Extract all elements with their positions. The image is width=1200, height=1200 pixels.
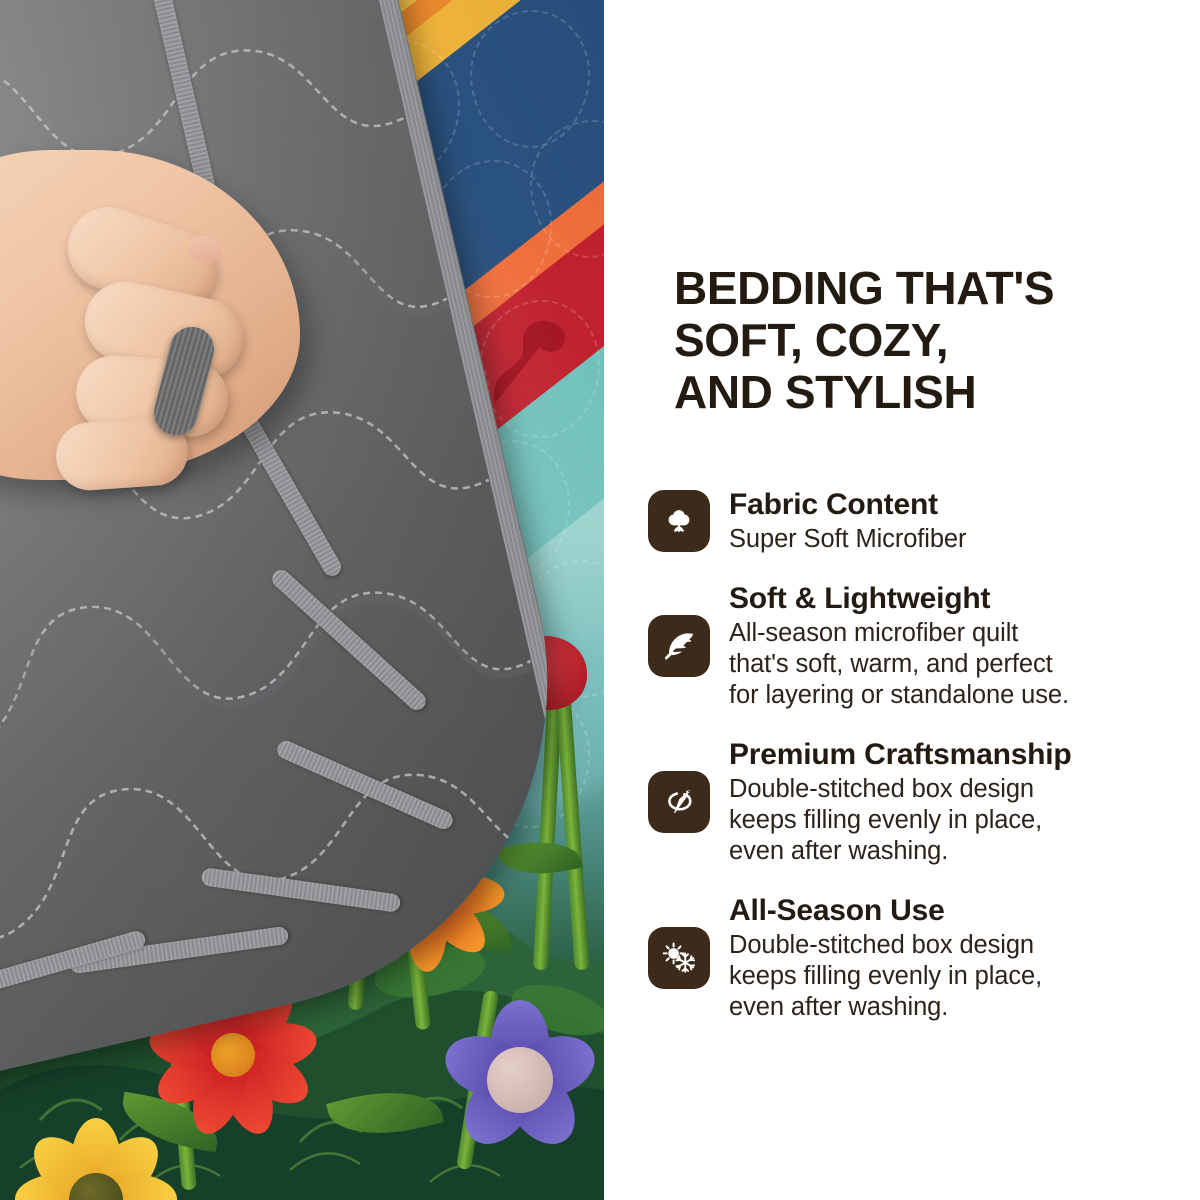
feature-description: Double-stitched box design keeps filling… bbox=[729, 774, 1178, 867]
feature-text: All-Season Use Double-stitched box desig… bbox=[729, 893, 1178, 1023]
feature-title: Fabric Content bbox=[729, 487, 1178, 523]
sun-snowflake-icon bbox=[648, 927, 710, 989]
feature-description: Super Soft Microfiber bbox=[729, 524, 1178, 555]
feature-description: All-season microfiber quilt that's soft,… bbox=[729, 618, 1178, 711]
page-title: BEDDING THAT'S SOFT, COZY, AND STYLISH bbox=[674, 262, 1054, 418]
flower-center bbox=[211, 1033, 255, 1077]
feature-text: Soft & Lightweight All-season microfiber… bbox=[729, 581, 1178, 711]
feature-content-panel: BEDDING THAT'S SOFT, COZY, AND STYLISH bbox=[604, 0, 1200, 1200]
flower-purple bbox=[440, 1000, 600, 1160]
feature-text: Premium Craftsmanship Double-stitched bo… bbox=[729, 737, 1178, 867]
feature-list: Fabric Content Super Soft Microfiber Sof… bbox=[648, 487, 1178, 1023]
feature-text: Fabric Content Super Soft Microfiber bbox=[729, 487, 1178, 555]
product-photo bbox=[0, 0, 604, 1200]
flower-center bbox=[487, 1047, 553, 1113]
feature-title: Premium Craftsmanship bbox=[729, 737, 1178, 773]
feature-title: Soft & Lightweight bbox=[729, 581, 1178, 617]
needle-thread-icon bbox=[648, 771, 710, 833]
feature-description: Double-stitched box design keeps filling… bbox=[729, 930, 1178, 1023]
product-feature-page: BEDDING THAT'S SOFT, COZY, AND STYLISH bbox=[0, 0, 1200, 1200]
feature-item-premium-craftsmanship: Premium Craftsmanship Double-stitched bo… bbox=[648, 737, 1178, 867]
feature-item-all-season-use: All-Season Use Double-stitched box desig… bbox=[648, 893, 1178, 1023]
cotton-boll-icon bbox=[648, 490, 710, 552]
feature-item-fabric-content: Fabric Content Super Soft Microfiber bbox=[648, 487, 1178, 555]
feather-icon bbox=[648, 615, 710, 677]
flower-yellow bbox=[16, 1120, 176, 1200]
feature-title: All-Season Use bbox=[729, 893, 1178, 929]
hand-lifting-quilt bbox=[0, 140, 390, 570]
feature-item-soft-lightweight: Soft & Lightweight All-season microfiber… bbox=[648, 581, 1178, 711]
